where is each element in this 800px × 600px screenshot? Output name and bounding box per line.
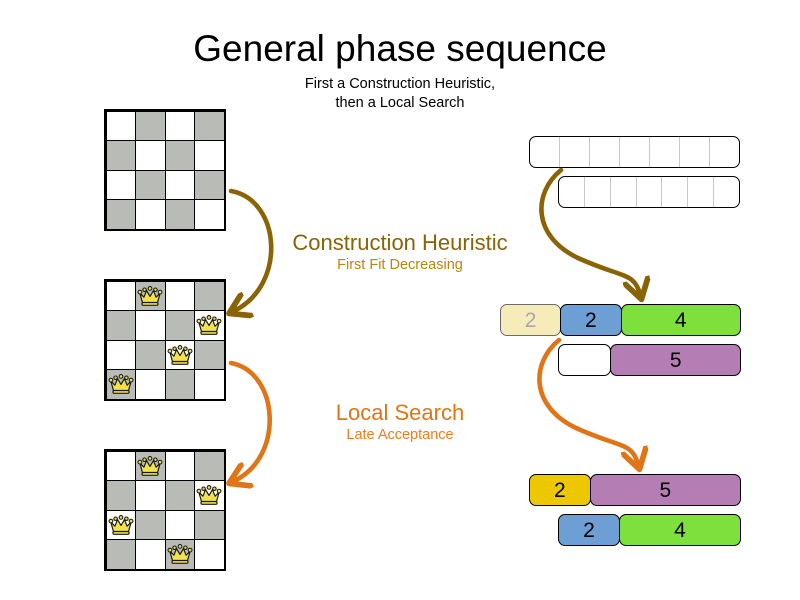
board-cell <box>194 140 225 171</box>
board-cell <box>135 510 166 541</box>
chessboard-empty <box>104 109 226 231</box>
phase-algorithm-first-fit-decreasing: First Fit Decreasing <box>250 256 550 275</box>
bin-slot <box>559 177 585 207</box>
queen-icon <box>108 371 134 397</box>
phase-label-construction-heuristic: Construction Heuristic First Fit Decreas… <box>250 230 550 275</box>
bin-bar-ch-2: 5 <box>558 344 740 376</box>
bin-item: 5 <box>610 344 741 376</box>
board-cell <box>106 340 137 371</box>
bin-item-label: 2 <box>583 520 595 541</box>
board-cell <box>135 199 166 230</box>
board-cell <box>106 451 137 482</box>
board-cell <box>194 510 225 541</box>
board-cell <box>194 369 225 400</box>
board-cell <box>194 281 225 312</box>
board-cell <box>135 480 166 511</box>
board-cell <box>135 310 166 341</box>
board-cell <box>106 140 137 171</box>
board-cell <box>106 480 137 511</box>
bin-item-label: 5 <box>670 350 682 371</box>
bin-slot <box>650 137 680 167</box>
bin-item: 2 <box>560 304 621 336</box>
bin-item: 4 <box>619 514 741 546</box>
queen-icon <box>196 482 222 508</box>
queen-icon <box>196 312 222 338</box>
phase-algorithm-late-acceptance: Late Acceptance <box>250 426 550 445</box>
queen-icon <box>137 453 163 479</box>
bin-item: 5 <box>590 474 741 506</box>
board-cell <box>106 369 137 400</box>
bin-item-label: 2 <box>554 480 566 501</box>
board-cell <box>165 510 196 541</box>
board-cell <box>194 199 225 230</box>
chessboard-construction-heuristic <box>104 279 226 401</box>
bin-item-label: 2 <box>525 310 537 331</box>
bin-slot <box>585 177 611 207</box>
bin-slot <box>680 137 710 167</box>
bin-slot <box>710 137 739 167</box>
board-cell <box>194 310 225 341</box>
bin-bar-empty-2 <box>558 176 740 208</box>
board-cell <box>165 170 196 201</box>
board-cell <box>135 340 166 371</box>
board-cell <box>194 170 225 201</box>
bin-slot <box>611 177 637 207</box>
board-cell <box>165 310 196 341</box>
bin-item-label: 5 <box>660 480 672 501</box>
bin-bar-ls-1: 25 <box>529 474 740 506</box>
queen-icon <box>167 342 193 368</box>
board-cell <box>165 111 196 142</box>
page-title: General phase sequence <box>0 27 800 71</box>
bin-slot <box>560 137 590 167</box>
board-cell <box>106 170 137 201</box>
phase-label-local-search: Local Search Late Acceptance <box>250 400 550 445</box>
board-cell <box>194 111 225 142</box>
phase-name-local-search: Local Search <box>250 400 550 426</box>
board-cell <box>106 539 137 570</box>
board-cell <box>165 281 196 312</box>
bin-item-label: 2 <box>585 310 597 331</box>
bin-bar-ch-1: 224 <box>500 304 740 336</box>
queen-icon <box>167 541 193 567</box>
board-cell <box>135 140 166 171</box>
board-cell <box>165 369 196 400</box>
phase-name-construction-heuristic: Construction Heuristic <box>250 230 550 256</box>
bin-bar-empty-1 <box>529 136 740 168</box>
board-cell <box>106 310 137 341</box>
board-cell <box>135 451 166 482</box>
bin-item: 4 <box>621 304 742 336</box>
board-cell <box>165 140 196 171</box>
board-cell <box>135 369 166 400</box>
board-cell <box>194 539 225 570</box>
board-cell <box>135 111 166 142</box>
board-cell <box>165 539 196 570</box>
bin-free-space <box>558 344 611 376</box>
page-subtitle: First a Construction Heuristic, then a L… <box>0 75 800 113</box>
board-cell <box>165 451 196 482</box>
board-cell <box>106 199 137 230</box>
board-cell <box>135 539 166 570</box>
bin-item: 2 <box>500 304 561 336</box>
board-cell <box>106 111 137 142</box>
bin-slot <box>637 177 663 207</box>
board-cell <box>135 281 166 312</box>
board-cell <box>165 199 196 230</box>
bin-slot <box>714 177 739 207</box>
board-cell <box>106 281 137 312</box>
chessboard-local-search <box>104 449 226 571</box>
subtitle-line-1: First a Construction Heuristic, <box>0 75 800 94</box>
bin-slot <box>620 137 650 167</box>
queen-icon <box>108 512 134 538</box>
board-cell <box>135 170 166 201</box>
bin-item-label: 4 <box>675 310 687 331</box>
board-cell <box>194 451 225 482</box>
board-cell <box>194 480 225 511</box>
header: General phase sequence First a Construct… <box>0 0 800 113</box>
bin-slot <box>590 137 620 167</box>
queen-icon <box>137 283 163 309</box>
board-cell <box>106 510 137 541</box>
board-cell <box>165 340 196 371</box>
bin-slot <box>662 177 688 207</box>
bin-item: 2 <box>529 474 591 506</box>
bin-item-label: 4 <box>674 520 686 541</box>
bin-bar-ls-2: 24 <box>558 514 740 546</box>
board-cell <box>194 340 225 371</box>
bin-item: 2 <box>558 514 620 546</box>
bin-slot <box>530 137 560 167</box>
board-cell <box>165 480 196 511</box>
bin-slot <box>688 177 714 207</box>
